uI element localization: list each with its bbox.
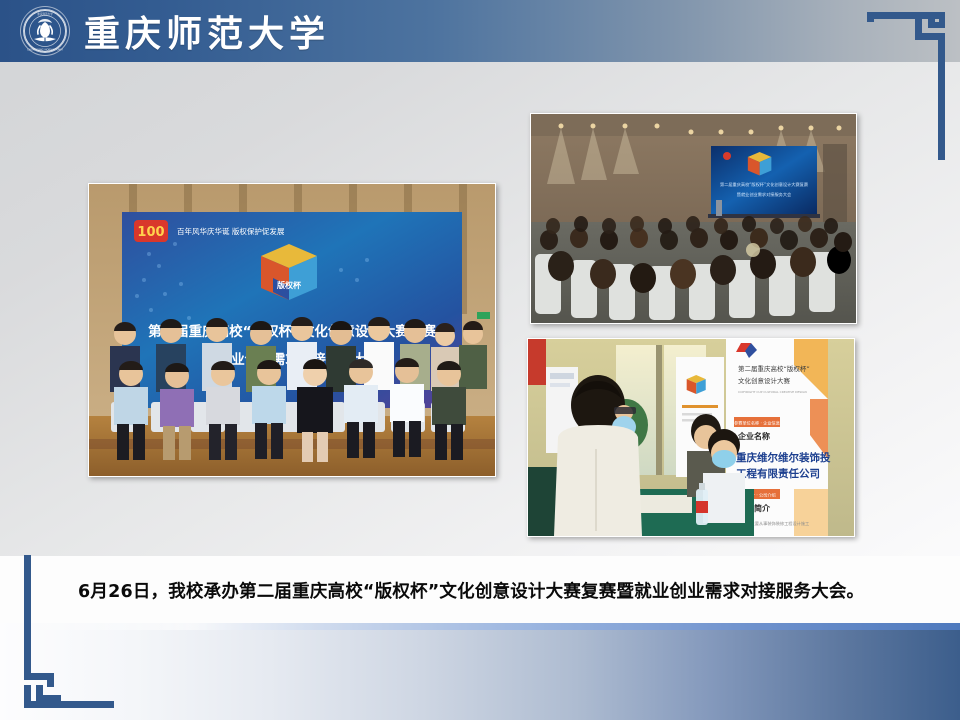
fret-corner-top-right-icon [850, 4, 960, 169]
university-name-wordmark: 重庆师范大学 [84, 5, 330, 57]
svg-text:百年风华庆华诞 版权保护促发展: 百年风华庆华诞 版权保护促发展 [177, 226, 285, 236]
svg-text:重庆师范大学: 重庆师范大学 [37, 12, 53, 16]
svg-text:参赛单位名称 · 企业信息: 参赛单位名称 · 企业信息 [734, 420, 780, 427]
svg-text:第二届重庆高校“版权杯”文化创意设计大赛复赛: 第二届重庆高校“版权杯”文化创意设计大赛复赛 [720, 181, 809, 188]
svg-text:100: 100 [137, 225, 164, 240]
header-content: 重庆师范大学 CHONGQING NORMAL UNIV 重庆师范大学 [0, 0, 330, 62]
fret-corner-bottom-left-icon [16, 555, 126, 720]
slide-root: 重庆师范大学 CHONGQING NORMAL UNIV 重庆师范大学 [0, 0, 960, 720]
audience-photo[interactable]: 第二届重庆高校“版权杯”文化创意设计大赛复赛 暨就业创业需求对接服务大会 [530, 113, 857, 324]
caption-text: 6月26日，我校承办第二届重庆高校“版权杯”文化创意设计大赛复赛暨就业创业需求对… [78, 578, 938, 603]
svg-text:企业名称: 企业名称 [737, 431, 770, 441]
svg-text:COPYRIGHT CUP CULTURAL CREATIV: COPYRIGHT CUP CULTURAL CREATIVE DESIGN [738, 390, 807, 394]
group-photo[interactable]: 100 百年风华庆华诞 版权保护促发展 版权杯 第二届重庆高校“版权杯”文化创意… [88, 183, 496, 477]
footer-band [0, 623, 960, 720]
svg-text:重庆维尔维尔装饰投: 重庆维尔维尔装饰投 [736, 451, 831, 464]
booth-photo[interactable]: 第二届重庆高校“版权杯” 文化创意设计大赛 COPYRIGHT CUP CULT… [527, 338, 855, 537]
svg-text:CHONGQING NORMAL UNIV: CHONGQING NORMAL UNIV [27, 48, 63, 52]
university-seal-icon: 重庆师范大学 CHONGQING NORMAL UNIV [20, 6, 70, 56]
svg-text:文化创意设计大赛: 文化创意设计大赛 [738, 376, 791, 385]
footer-highlight-line [0, 623, 960, 630]
header-bar: 重庆师范大学 CHONGQING NORMAL UNIV 重庆师范大学 [0, 0, 960, 62]
svg-text:暨就业创业需求对接服务大会: 暨就业创业需求对接服务大会 [737, 191, 792, 198]
svg-text:第二届重庆高校“版权杯”: 第二届重庆高校“版权杯” [738, 364, 810, 373]
svg-text:版权杯: 版权杯 [276, 280, 302, 290]
svg-text:工程有限责任公司: 工程有限责任公司 [736, 467, 820, 480]
